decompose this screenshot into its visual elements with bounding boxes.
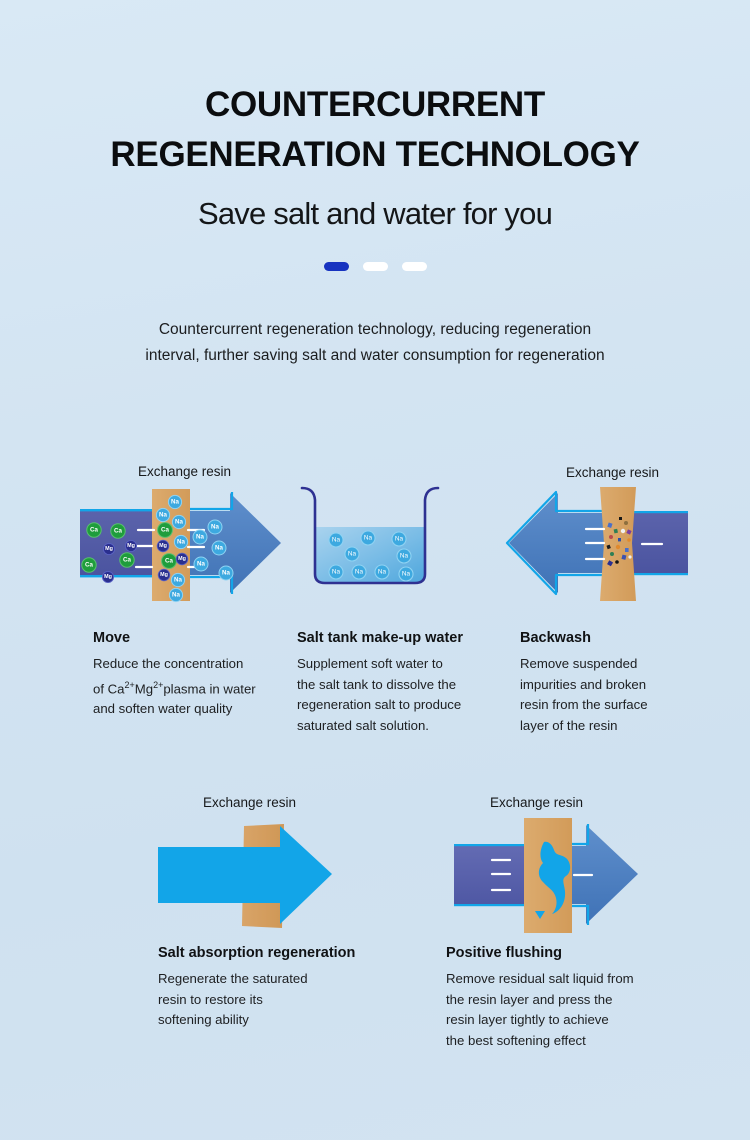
svg-text:Ca: Ca [85, 562, 93, 569]
step-panel-positive-flushing: Exchange resin [440, 785, 670, 1075]
carousel-dot-1[interactable] [324, 262, 349, 271]
page-subtitle: Save salt and water for you [0, 196, 750, 232]
positive-flushing-diagram [440, 816, 650, 936]
move-diagram: Ca Ca Ca Ca Ca Ca Mg Mg [78, 485, 288, 605]
carousel-dot-2[interactable] [363, 262, 388, 271]
step-body-backwash: Remove suspendedimpurities and brokenres… [520, 654, 710, 736]
intro-line-2: interval, further saving salt and water … [105, 343, 645, 369]
step-body-positive-flushing: Remove residual salt liquid fromthe resi… [446, 969, 671, 1051]
page-title-line-1: COUNTERCURRENT [205, 85, 545, 124]
svg-text:Na: Na [174, 577, 182, 584]
backwash-diagram [506, 485, 696, 605]
svg-text:Na: Na [348, 551, 357, 558]
svg-text:Na: Na [332, 569, 341, 576]
steps-row-1: Exchange resin [0, 452, 750, 742]
step-body-salt-tank: Supplement soft water tothe salt tank to… [297, 654, 502, 736]
svg-text:Ca: Ca [161, 527, 169, 534]
svg-text:Na: Na [332, 537, 341, 544]
svg-text:Ca: Ca [114, 528, 122, 535]
svg-text:Na: Na [171, 499, 179, 506]
svg-text:Na: Na [172, 592, 180, 599]
svg-text:Na: Na [215, 545, 223, 552]
svg-text:Mg: Mg [160, 572, 168, 578]
svg-text:Na: Na [400, 553, 409, 560]
svg-text:Mg: Mg [178, 556, 186, 562]
page-title-line-2: REGENERATION TECHNOLOGY [110, 135, 639, 174]
exchange-resin-label-absorption: Exchange resin [203, 795, 296, 810]
svg-text:Na: Na [177, 539, 185, 546]
svg-text:Na: Na [395, 536, 404, 543]
step-panel-move: Exchange resin [78, 452, 288, 742]
svg-text:Ca: Ca [165, 558, 173, 565]
svg-text:Mg: Mg [104, 574, 112, 580]
page-root: COUNTERCURRENT REGENERATION TECHNOLOGY S… [0, 0, 750, 1140]
svg-text:Na: Na [211, 524, 219, 531]
step-title-salt-tank: Salt tank make-up water [297, 630, 463, 646]
page-title: COUNTERCURRENT REGENERATION TECHNOLOGY [0, 80, 750, 180]
flushing-tail-top-edge [454, 844, 530, 846]
steps-row-2: Exchange resin Salt absorption regenerat… [0, 785, 750, 1075]
svg-text:Ca: Ca [90, 527, 98, 534]
svg-text:Mg: Mg [105, 546, 113, 552]
svg-text:Na: Na [402, 571, 411, 578]
salt-tank-diagram: Na Na Na Na Na Na Na Na Na [298, 482, 458, 602]
svg-text:Na: Na [378, 569, 387, 576]
hero-section: COUNTERCURRENT REGENERATION TECHNOLOGY S… [0, 0, 750, 271]
exchange-resin-label-flushing: Exchange resin [490, 795, 583, 810]
carousel-dots[interactable] [0, 262, 750, 271]
flushing-tail-bottom-edge [454, 904, 530, 906]
step-title-move: Move [93, 630, 130, 646]
exchange-resin-label-backwash: Exchange resin [566, 465, 659, 480]
salt-absorption-diagram [156, 816, 356, 936]
exchange-resin-label-move: Exchange resin [138, 464, 231, 479]
resin-column-backwash [600, 487, 636, 601]
svg-text:Na: Na [222, 570, 230, 577]
step-title-positive-flushing: Positive flushing [446, 945, 562, 961]
svg-text:Na: Na [175, 519, 183, 526]
step-body-salt-absorption: Regenerate the saturatedresin to restore… [158, 969, 378, 1031]
svg-text:Na: Na [196, 534, 204, 541]
svg-text:Na: Na [159, 512, 167, 519]
svg-text:Na: Na [197, 561, 205, 568]
svg-text:Na: Na [355, 569, 364, 576]
step-panel-salt-absorption: Exchange resin Salt absorption regenerat… [152, 785, 382, 1075]
svg-text:Ca: Ca [123, 557, 131, 564]
svg-text:Na: Na [364, 535, 373, 542]
step-panel-salt-tank: Na Na Na Na Na Na Na Na Na [292, 452, 502, 742]
intro-paragraph: Countercurrent regeneration technology, … [105, 317, 645, 369]
intro-line-1: Countercurrent regeneration technology, … [105, 317, 645, 343]
step-panel-backwash: Exchange resin [508, 452, 718, 742]
svg-text:Mg: Mg [127, 543, 135, 549]
step-title-salt-absorption: Salt absorption regeneration [158, 945, 355, 961]
step-title-backwash: Backwash [520, 630, 591, 646]
step-body-move: Reduce the concentrationof Ca2+Mg2+plasm… [93, 654, 288, 720]
svg-text:Mg: Mg [159, 543, 167, 549]
carousel-dot-3[interactable] [402, 262, 427, 271]
